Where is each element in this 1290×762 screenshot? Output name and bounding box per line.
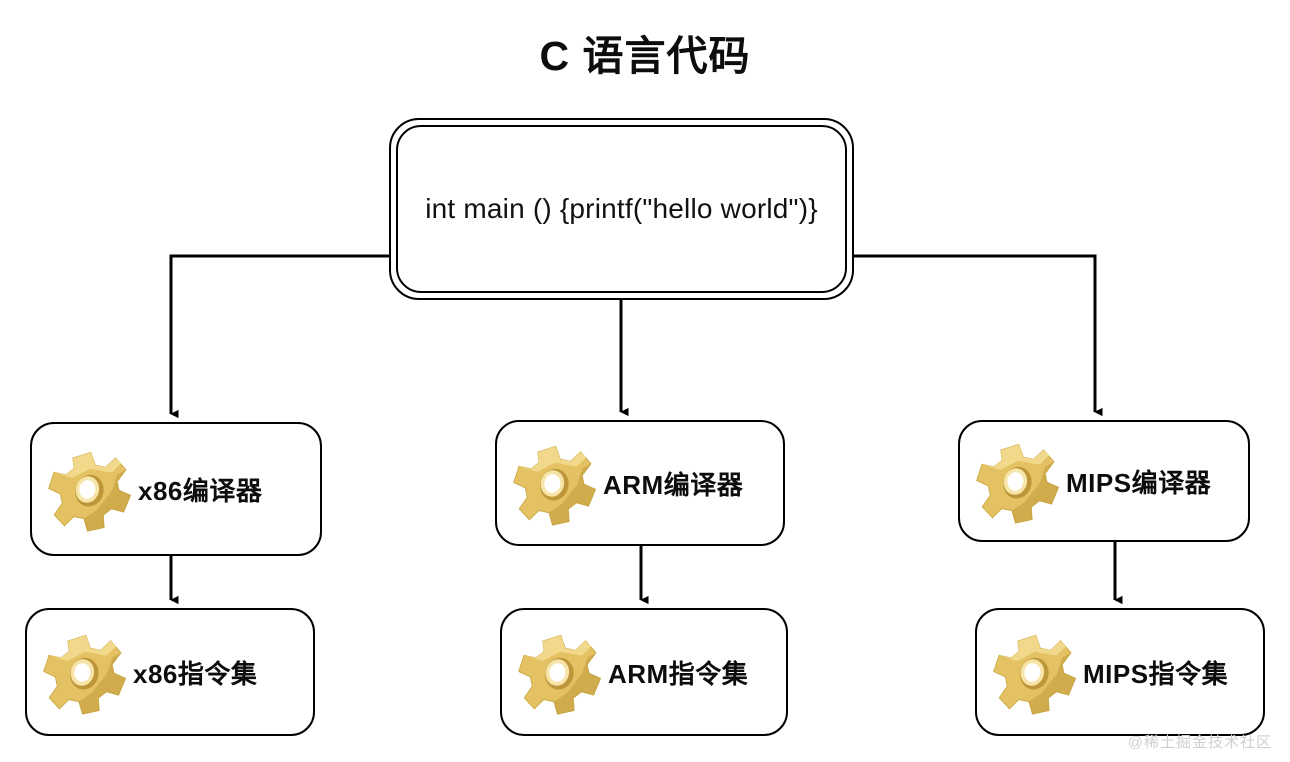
node-arm-compiler[interactable]: ARM编译器 bbox=[495, 420, 785, 546]
node-mips-compiler[interactable]: MIPS编译器 bbox=[958, 420, 1250, 542]
node-label: x86指令集 bbox=[133, 654, 257, 691]
gear-icon bbox=[46, 446, 132, 532]
edge-code-to-x86 bbox=[171, 256, 389, 414]
gear-icon bbox=[511, 440, 597, 526]
gear-icon bbox=[41, 629, 127, 715]
diagram-canvas: C 语言代码 int main () {printf("hello world"… bbox=[0, 0, 1290, 762]
node-label: ARM编译器 bbox=[603, 465, 743, 502]
node-x86-instruction-set[interactable]: x86指令集 bbox=[25, 608, 315, 736]
code-box-inner-border: int main () {printf("hello world")} bbox=[396, 125, 847, 293]
node-x86-compiler[interactable]: x86编译器 bbox=[30, 422, 322, 556]
gear-icon bbox=[991, 629, 1077, 715]
node-label: MIPS指令集 bbox=[1083, 654, 1228, 691]
code-snippet-text: int main () {printf("hello world")} bbox=[425, 193, 818, 225]
node-mips-instruction-set[interactable]: MIPS指令集 bbox=[975, 608, 1265, 736]
gear-icon bbox=[974, 438, 1060, 524]
node-label: ARM指令集 bbox=[608, 654, 748, 691]
code-box: int main () {printf("hello world")} bbox=[389, 118, 854, 300]
node-label: x86编译器 bbox=[138, 471, 262, 508]
page-title: C 语言代码 bbox=[0, 34, 1290, 79]
node-label: MIPS编译器 bbox=[1066, 463, 1211, 500]
watermark: @稀土掘金技术社区 bbox=[1128, 731, 1272, 752]
gear-icon bbox=[516, 629, 602, 715]
edge-code-to-mips bbox=[854, 256, 1095, 412]
node-arm-instruction-set[interactable]: ARM指令集 bbox=[500, 608, 788, 736]
